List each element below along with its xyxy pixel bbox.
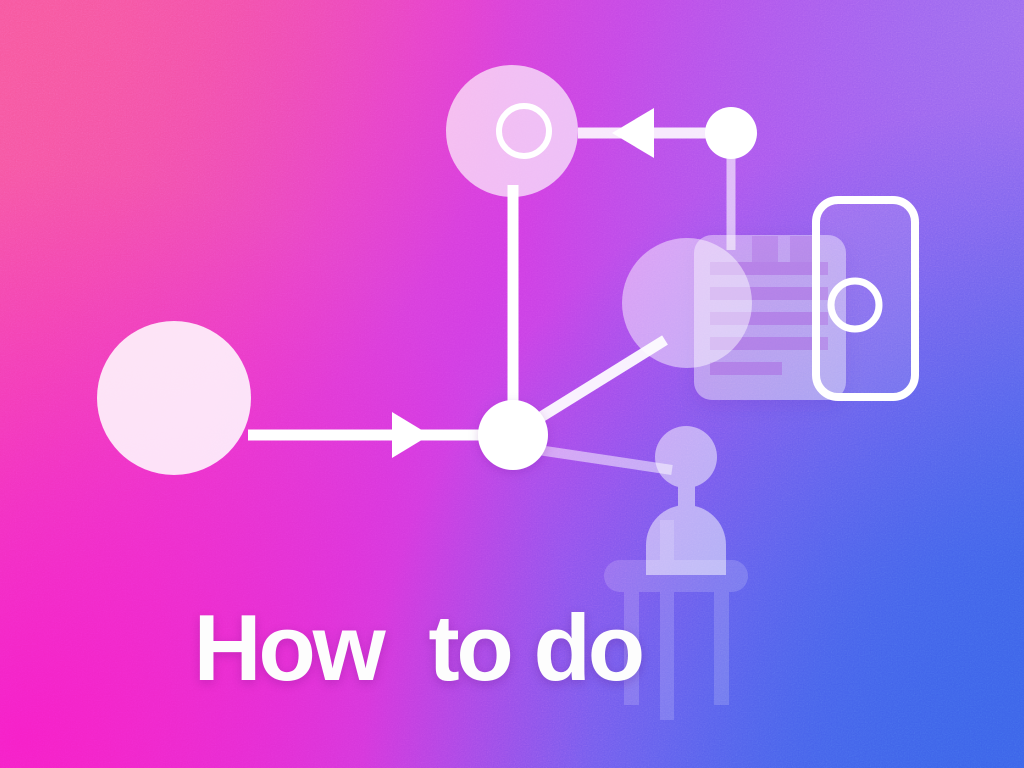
page-title: How to do Proccess Chart	[102, 524, 741, 768]
headline-line-1: How to do	[194, 595, 642, 700]
phone-frame	[816, 200, 915, 397]
junction-circle	[705, 107, 757, 159]
ring-circle	[446, 65, 578, 197]
arrowhead-left-icon	[612, 108, 654, 158]
junction-to-ring-arrow	[578, 108, 712, 158]
poster-canvas: How to do Proccess Chart	[0, 0, 1024, 768]
translucent-lens-circle	[622, 238, 752, 368]
hub-circle	[478, 400, 548, 470]
start-to-hub-arrow	[248, 412, 500, 458]
start-circle	[97, 321, 251, 475]
hub-to-person-link	[525, 448, 672, 470]
arrowhead-right-icon	[392, 412, 430, 458]
person-head-icon	[655, 426, 717, 488]
